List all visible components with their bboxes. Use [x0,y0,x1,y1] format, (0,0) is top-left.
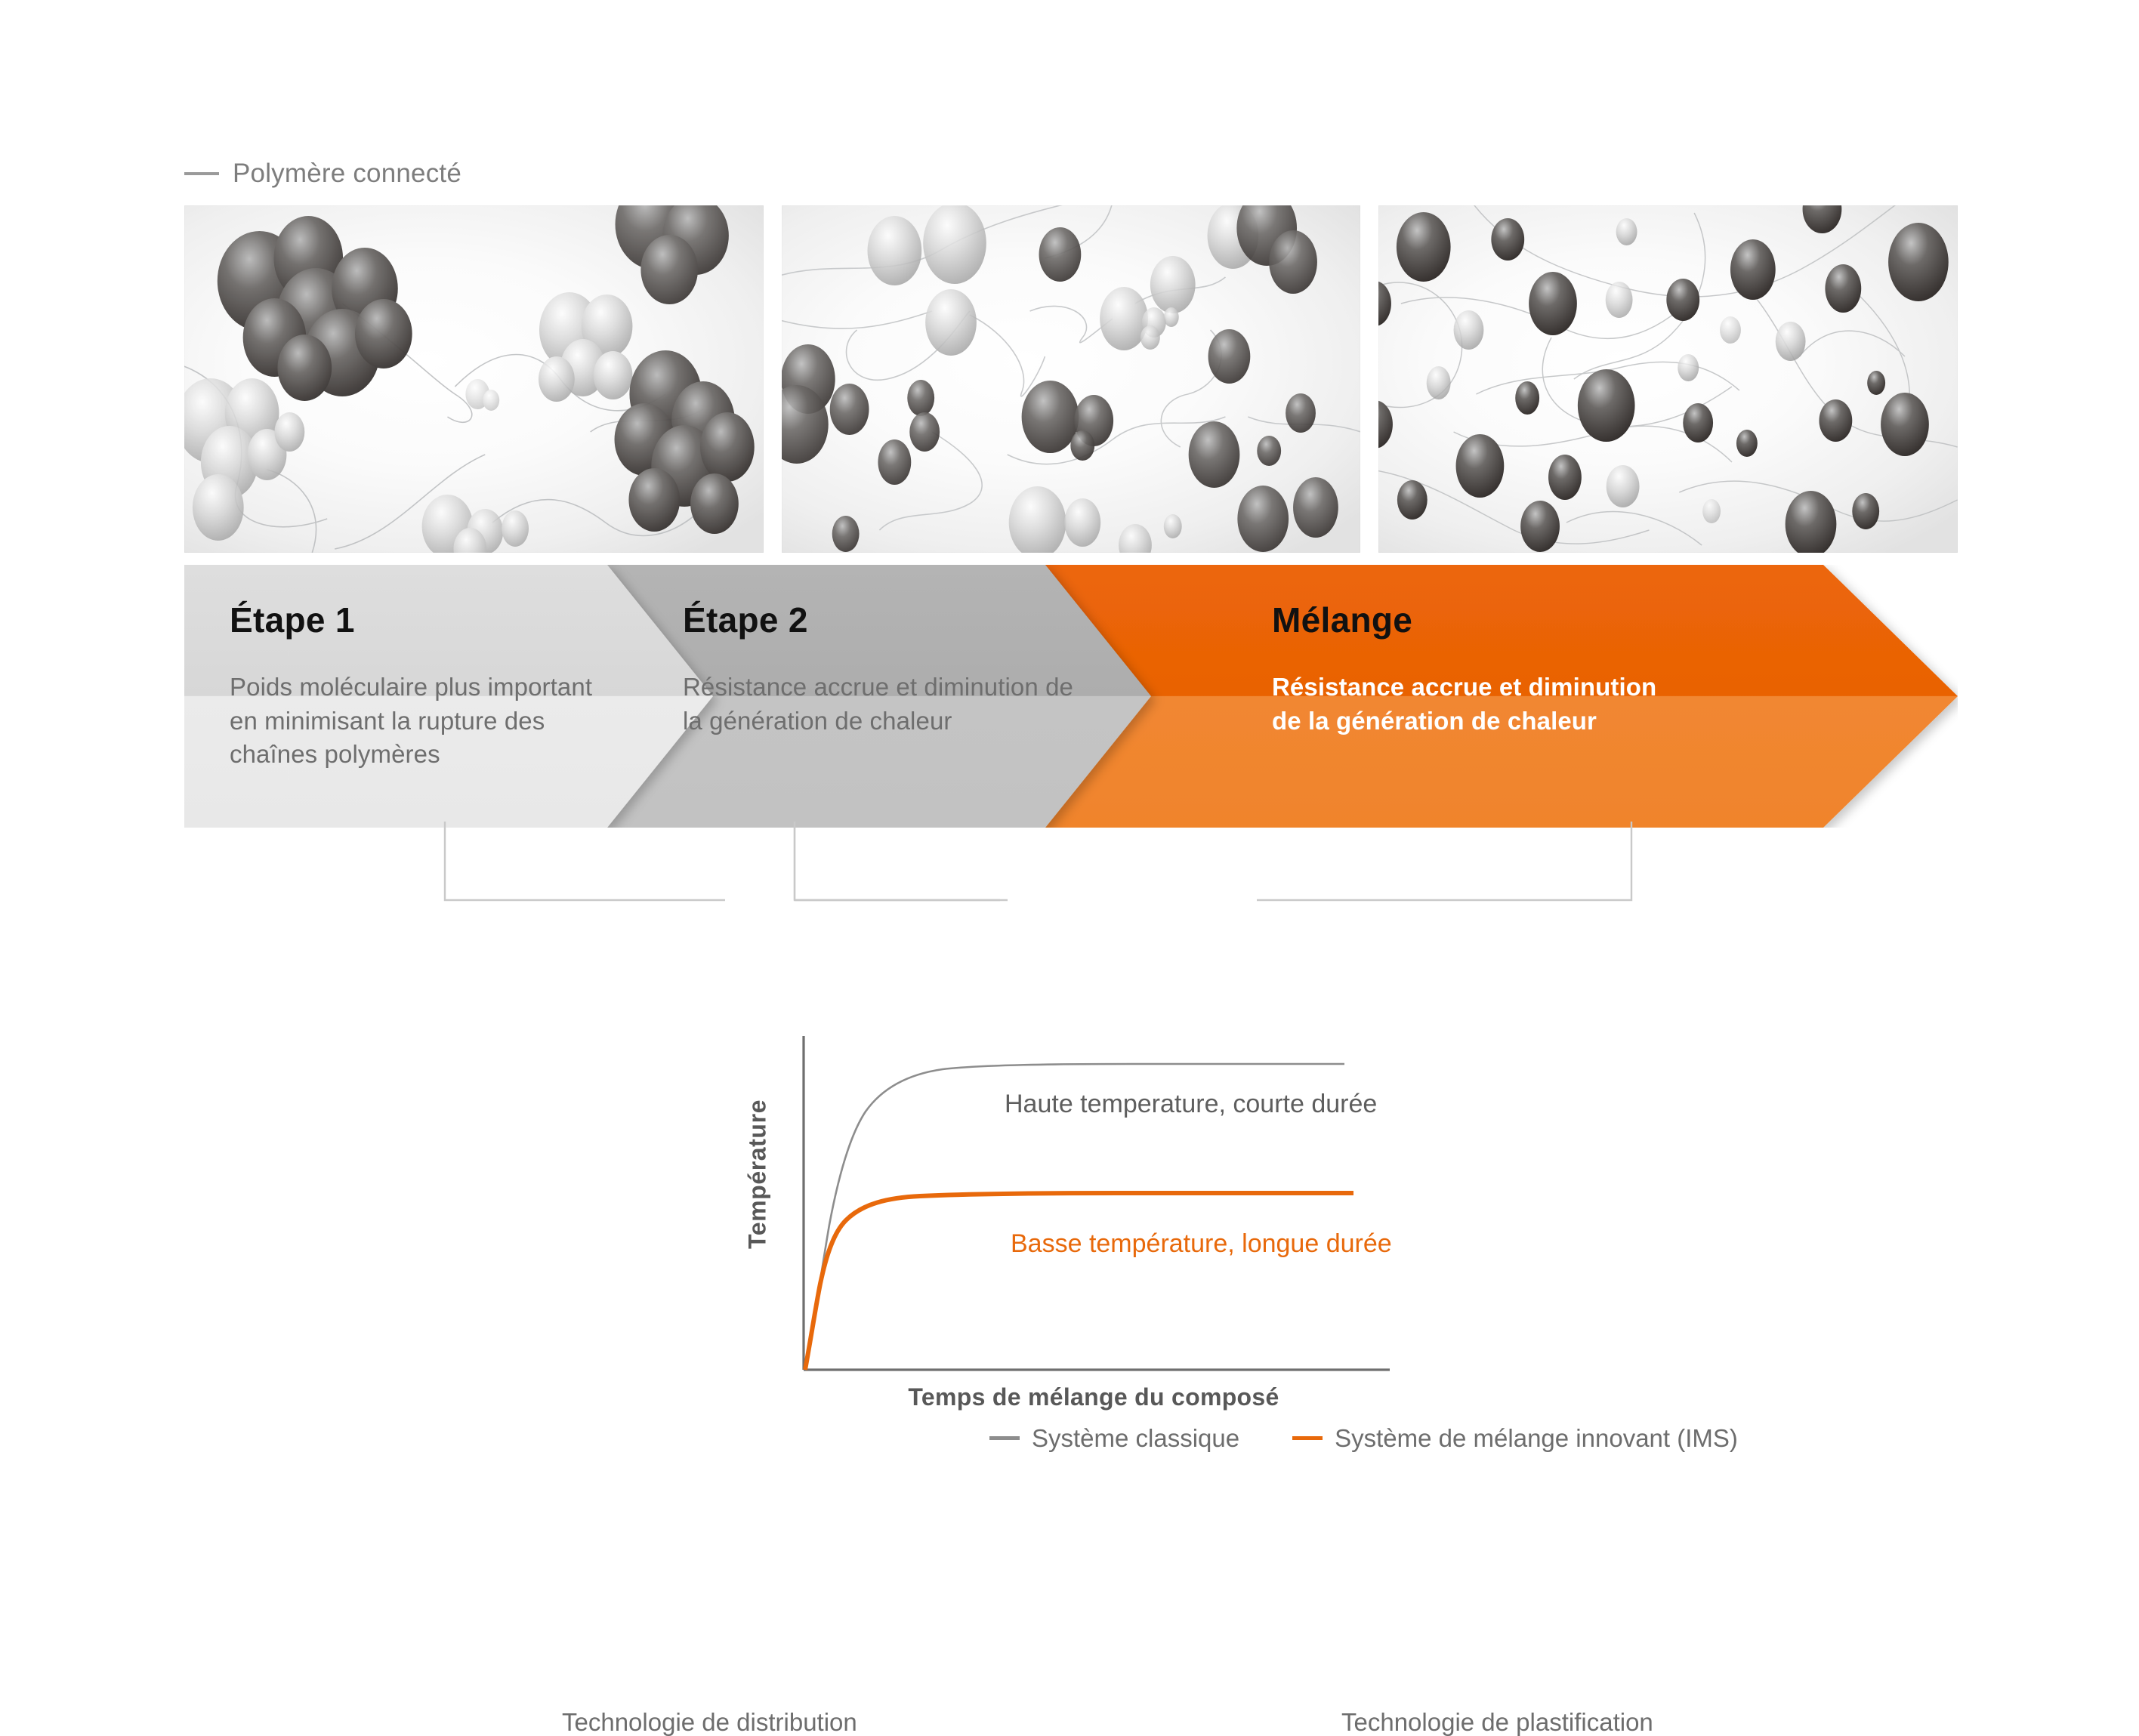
bracket-label-plastification: Technologie de plastification [1341,1710,1653,1734]
step-2-text-block: Étape 2 Résistance accrue et diminution … [683,603,1073,738]
step-1-title: Étape 1 [230,603,592,637]
chart-annotation-low: Basse température, longue durée [1011,1231,1392,1257]
panel-etape-2 [782,205,1361,553]
chart-legend: Système classique Système de mélange inn… [989,1426,1738,1451]
temperature-time-chart [740,1019,1526,1420]
chart-x-axis-label: Temps de mélange du composé [908,1383,1279,1411]
step-1-text-block: Étape 1 Poids moléculaire plus important… [230,603,592,772]
step-3-description: Résistance accrue et diminution de la gé… [1272,671,1656,738]
series-ims-curve [805,1193,1353,1370]
line-marker-icon [184,172,219,175]
panel-melange [1378,205,1958,553]
step-3-title: Mélange [1272,603,1656,637]
technology-brackets: Technologie de distribution Technologie … [184,822,1958,927]
bracket-label-distribution: Technologie de distribution [562,1710,857,1734]
legend-label-classique: Système classique [1032,1426,1239,1451]
molecule-panel-strip [184,205,1958,553]
legend-label-ims: Système de mélange innovant (IMS) [1335,1426,1738,1451]
chart-y-axis-label: Température [744,1099,772,1249]
step-3-text-block: Mélange Résistance accrue et diminution … [1272,603,1656,738]
step-2-title: Étape 2 [683,603,1073,637]
process-arrow-band: Étape 1 Poids moléculaire plus important… [184,565,1958,828]
gray-line-marker-icon [989,1436,1020,1440]
step-1-description: Poids moléculaire plus important en mini… [230,671,592,772]
orange-line-marker-icon [1292,1436,1323,1440]
step-2-description: Résistance accrue et diminution de la gé… [683,671,1073,738]
polymer-legend-label: Polymère connecté [233,160,461,187]
panel-etape-1 [184,205,764,553]
chart-annotation-high: Haute temperature, courte durée [1005,1091,1377,1117]
legend-item-classique: Système classique [989,1426,1239,1451]
polymer-legend: Polymère connecté [184,160,461,187]
legend-item-ims: Système de mélange innovant (IMS) [1292,1426,1738,1451]
